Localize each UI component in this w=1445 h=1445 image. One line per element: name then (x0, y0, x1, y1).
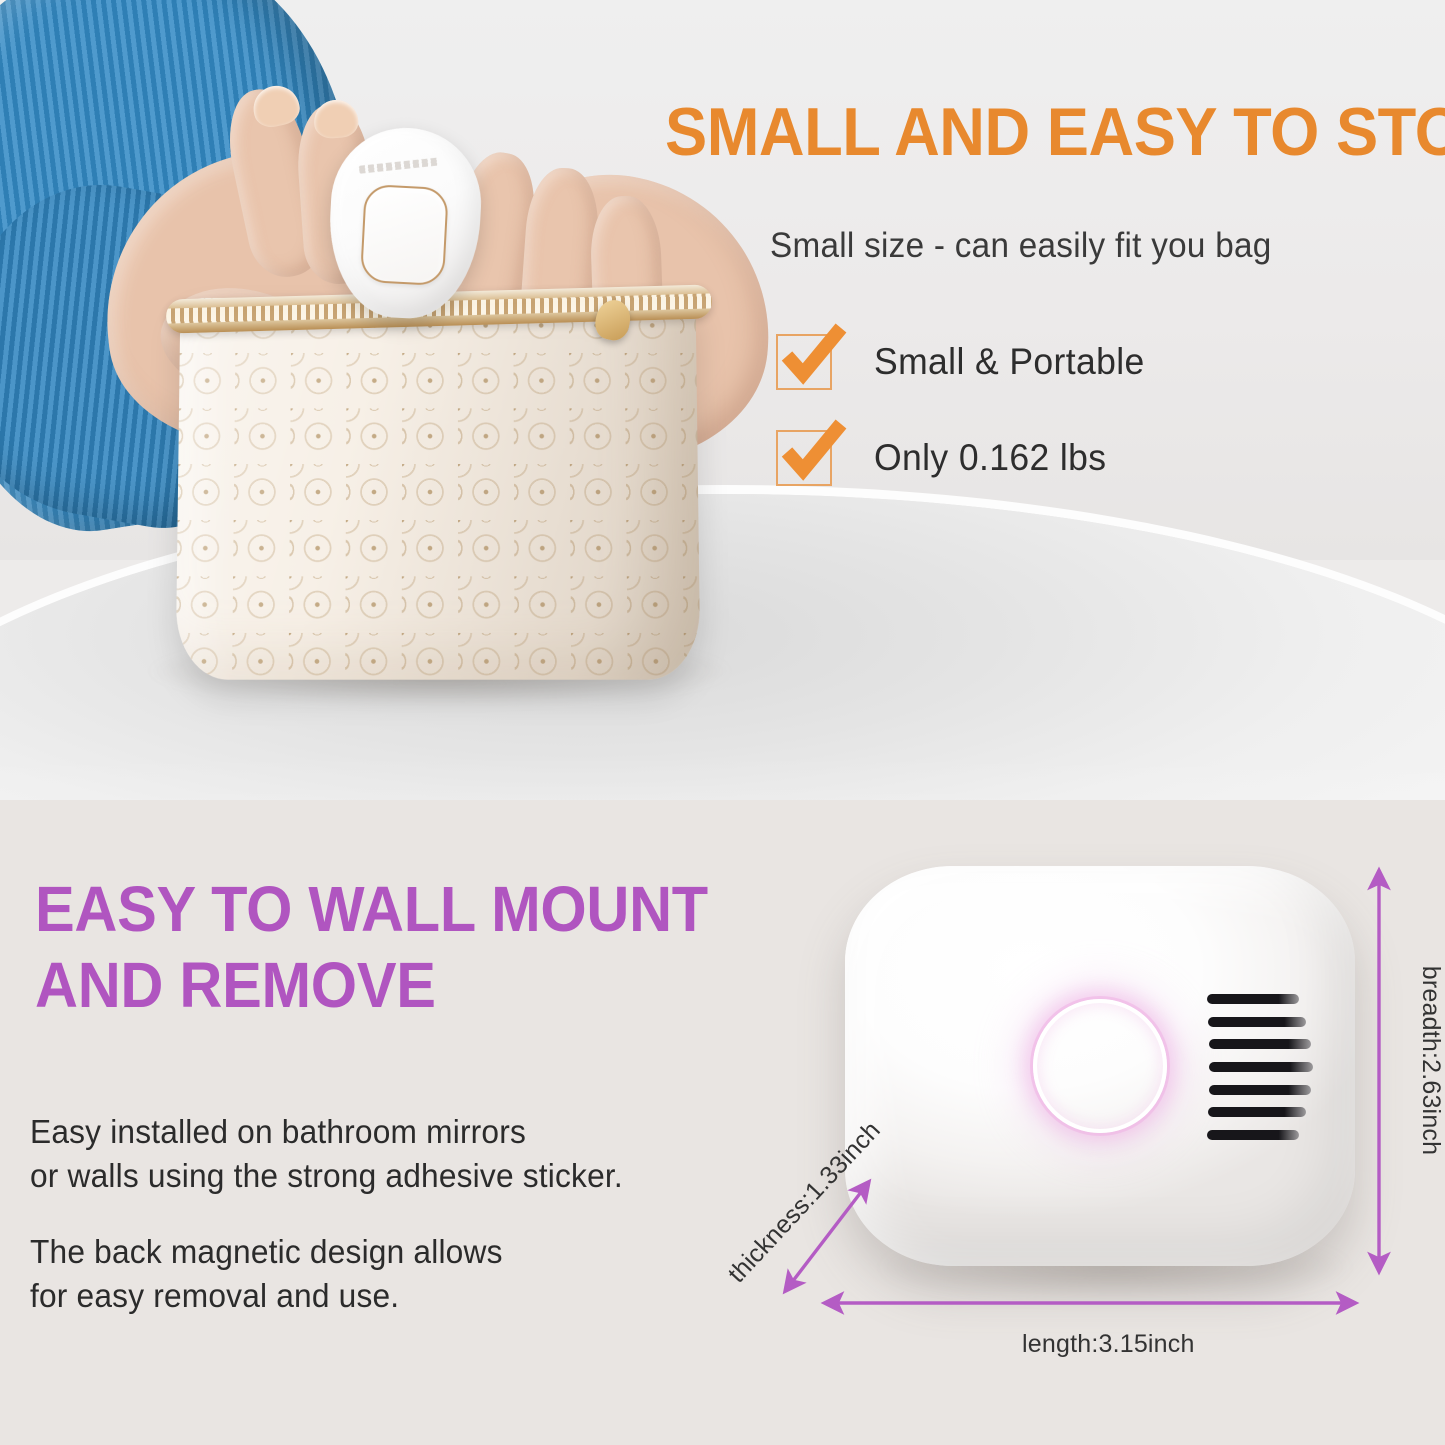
paragraph-2-line-1: The back magnetic design allows (30, 1230, 503, 1274)
checkmark-icon (777, 416, 849, 488)
bottom-panel-easy-to-wall-mount: EASY TO WALL MOUNT AND REMOVE Easy insta… (0, 800, 1445, 1445)
vent-slots (1205, 994, 1315, 1140)
paragraph-1-line-1: Easy installed on bathroom mirrors (30, 1110, 623, 1154)
vent-slot (1207, 1130, 1299, 1140)
checkbox-only-weight (776, 430, 832, 486)
vent-slot (1208, 1107, 1306, 1117)
paragraph-adhesive-sticker: Easy installed on bathroom mirrors or wa… (30, 1110, 623, 1197)
vent-slot (1209, 1039, 1311, 1049)
checkbox-small-portable (776, 334, 832, 390)
list-item: Small & Portable (776, 314, 1156, 410)
vent-slot (1209, 1062, 1313, 1072)
checklist-label: Only 0.162 lbs (874, 437, 1106, 479)
bag-shading (176, 298, 701, 680)
dimension-label-breadth: breadth:2.63inch (1416, 966, 1445, 1155)
dimension-label-length: length:3.15inch (1022, 1330, 1195, 1359)
vent-slot (1208, 1017, 1306, 1027)
top-panel-small-and-easy-to-store: SMALL AND EASY TO STORE Small size - can… (0, 0, 1445, 800)
vent-slot (1209, 1085, 1311, 1095)
device-power-button (360, 184, 449, 286)
section-title-line-1: EASY TO WALL MOUNT (35, 872, 630, 948)
section-title-line-2: AND REMOVE (35, 948, 630, 1024)
list-item: Only 0.162 lbs (776, 410, 1156, 506)
feature-checklist: Small & Portable Only 0.162 lbs (776, 314, 1156, 506)
cosmetic-bag (176, 298, 701, 680)
paragraph-2-line-2: for easy removal and use. (30, 1274, 503, 1318)
paragraph-magnetic-design: The back magnetic design allows for easy… (30, 1230, 503, 1317)
checklist-label: Small & Portable (874, 341, 1145, 383)
paragraph-1-line-2: or walls using the strong adhesive stick… (30, 1154, 623, 1198)
section-title-easy-to-wall-mount: EASY TO WALL MOUNT AND REMOVE (35, 872, 630, 1023)
device-brand-logo (359, 157, 439, 173)
glowing-ring-indicator (1033, 999, 1167, 1133)
subtitle-small-size: Small size - can easily fit you bag (770, 226, 1272, 266)
product-device-front-view (845, 866, 1355, 1266)
page-title-small-and-easy-to-store: SMALL AND EASY TO STORE (665, 98, 1372, 166)
vent-slot (1207, 994, 1299, 1004)
checkmark-icon (777, 320, 849, 392)
